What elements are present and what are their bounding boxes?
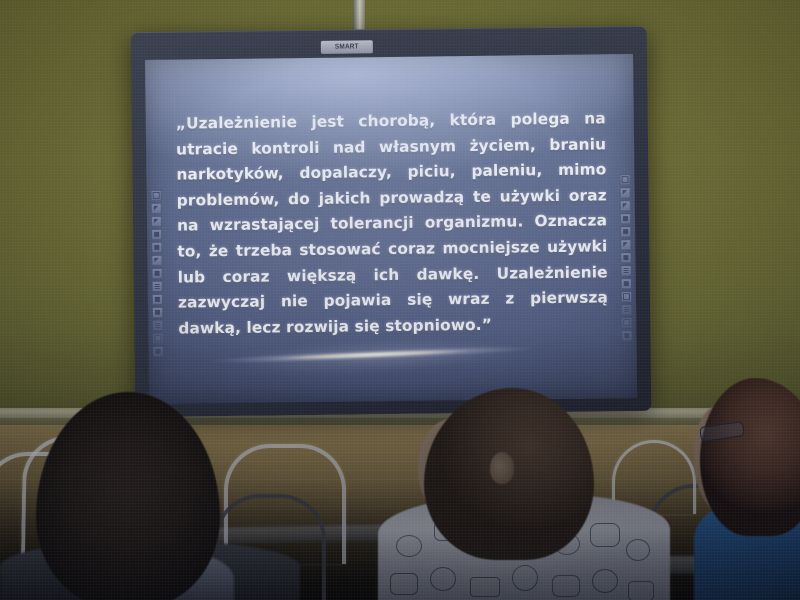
highlighter-icon[interactable] [151,216,162,227]
fill-tool-icon[interactable] [152,268,163,279]
capture-icon[interactable] [152,333,163,344]
marker-tool-icon-glyph [623,203,628,208]
gallery-icon[interactable] [621,278,632,289]
undo-icon-glyph [155,297,160,302]
marker-tool-icon[interactable] [620,200,631,211]
keyboard-icon[interactable] [621,304,632,315]
text-tool-icon-glyph [624,268,629,273]
eraser-icon-glyph [623,216,628,221]
whiteboard-brand-label: SMART [335,43,359,50]
pen-tool-icon-glyph [154,206,159,211]
settings-icon-glyph [624,333,629,338]
undo-icon[interactable] [152,294,163,305]
whiteboard-toolbar-left[interactable] [151,190,164,357]
text-tool-icon[interactable] [152,281,163,292]
settings-icon[interactable] [621,330,632,341]
whiteboard-brand-badge: SMART [321,40,373,54]
redo-icon-glyph [155,310,160,315]
capture-icon[interactable] [621,317,632,328]
eraser-icon[interactable] [620,213,631,224]
gallery-icon-glyph [624,281,629,286]
keyboard-icon[interactable] [152,320,163,331]
settings-icon-glyph [156,349,161,354]
projected-screen[interactable]: „Uzależnienie jest chorobą, która polega… [145,54,637,404]
student-center-ear [490,452,514,484]
line-tool-icon[interactable] [620,239,631,250]
line-tool-icon[interactable] [151,255,162,266]
select-tool-icon[interactable] [619,174,630,185]
page-icon[interactable] [621,291,632,302]
page-icon-glyph [623,293,630,300]
keyboard-icon-glyph [155,323,160,328]
shapes-icon-glyph [623,229,628,234]
text-tool-icon[interactable] [621,265,632,276]
line-tool-icon-glyph [623,242,628,247]
classroom-scene: SMART „Uzależnienie jest chorobą, która … [0,0,800,600]
select-tool-icon-glyph [153,192,160,199]
pen-tool-icon-glyph [623,190,628,195]
keyboard-icon-glyph [624,307,629,312]
eraser-icon[interactable] [151,229,162,240]
adult-right [700,378,800,536]
fill-tool-icon-glyph [155,271,160,276]
text-tool-icon-glyph [155,284,160,289]
whiteboard-toolbar-right[interactable] [619,174,632,341]
pen-tool-icon[interactable] [151,203,162,214]
capture-icon-glyph [154,335,161,342]
shapes-icon-glyph [154,245,159,250]
fill-tool-icon-glyph [623,255,628,260]
highlighter-icon-glyph [154,219,159,224]
capture-icon-glyph [623,319,630,326]
pen-tool-icon[interactable] [620,187,631,198]
line-tool-icon-glyph [154,258,159,263]
interactive-whiteboard[interactable]: SMART „Uzależnienie jest chorobą, która … [131,26,652,417]
shapes-icon[interactable] [620,226,631,237]
slide-body-text: „Uzależnienie jest chorobą, która polega… [176,106,609,342]
settings-icon[interactable] [153,346,164,357]
fill-tool-icon[interactable] [620,252,631,263]
select-tool-icon[interactable] [151,190,162,201]
select-tool-icon-glyph [621,176,628,183]
shapes-icon[interactable] [151,242,162,253]
redo-icon[interactable] [152,307,163,318]
eraser-icon-glyph [154,232,159,237]
